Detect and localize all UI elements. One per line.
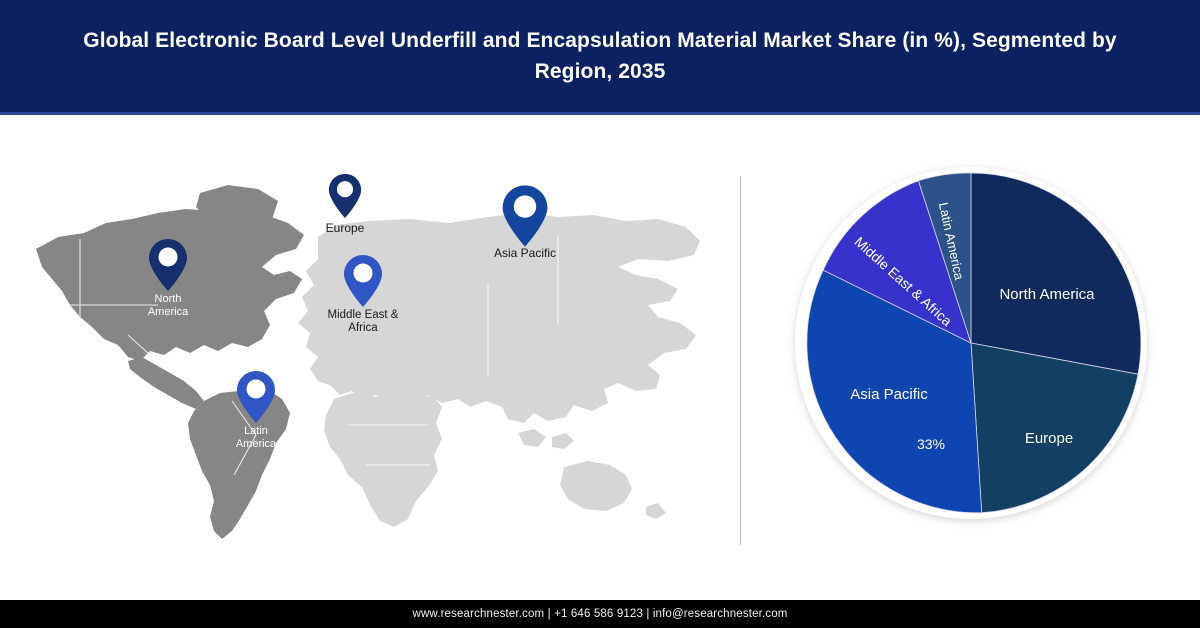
page-title: Global Electronic Board Level Underfill … bbox=[45, 25, 1155, 87]
pie-label-north-america: North America bbox=[999, 286, 1095, 303]
world-map: NorthAmerica LatinAmerica Europe Middle … bbox=[18, 175, 718, 575]
footer-contact-text: www.researchnester.com | +1 646 586 9123… bbox=[413, 608, 788, 620]
map-label-middle-east-africa: Middle East &Africa bbox=[308, 309, 418, 334]
map-label-europe: Europe bbox=[305, 222, 385, 235]
pie-label-asia-pacific: Asia Pacific bbox=[850, 386, 928, 403]
world-map-svg bbox=[18, 175, 718, 575]
map-label-north-america: NorthAmerica bbox=[128, 293, 208, 318]
location-pin-icon bbox=[148, 237, 188, 293]
location-pin-icon bbox=[328, 172, 362, 220]
page-header: Global Electronic Board Level Underfill … bbox=[0, 0, 1200, 112]
location-pin-icon bbox=[501, 183, 549, 249]
pie-slice-north-america[interactable] bbox=[971, 173, 1141, 374]
pie-chart-svg: North America Europe Asia Pacific 33% Mi… bbox=[781, 153, 1161, 533]
location-pin-icon bbox=[236, 369, 276, 425]
map-pin-latin-america[interactable] bbox=[236, 369, 276, 425]
map-pin-europe[interactable] bbox=[328, 172, 362, 220]
map-label-latin-america: LatinAmerica bbox=[216, 425, 296, 450]
pie-value-asia-pacific: 33% bbox=[917, 436, 945, 452]
location-pin-icon bbox=[343, 253, 383, 309]
map-pin-north-america[interactable] bbox=[148, 237, 188, 293]
main-content: NorthAmerica LatinAmerica Europe Middle … bbox=[0, 115, 1200, 600]
map-pin-middle-east-africa[interactable] bbox=[343, 253, 383, 309]
map-pin-asia-pacific[interactable] bbox=[501, 183, 549, 249]
section-divider bbox=[740, 177, 741, 545]
pie-label-europe: Europe bbox=[1025, 430, 1073, 447]
page-footer: www.researchnester.com | +1 646 586 9123… bbox=[0, 600, 1200, 628]
pie-chart: North America Europe Asia Pacific 33% Mi… bbox=[781, 153, 1161, 533]
map-label-asia-pacific: Asia Pacific bbox=[480, 247, 570, 260]
